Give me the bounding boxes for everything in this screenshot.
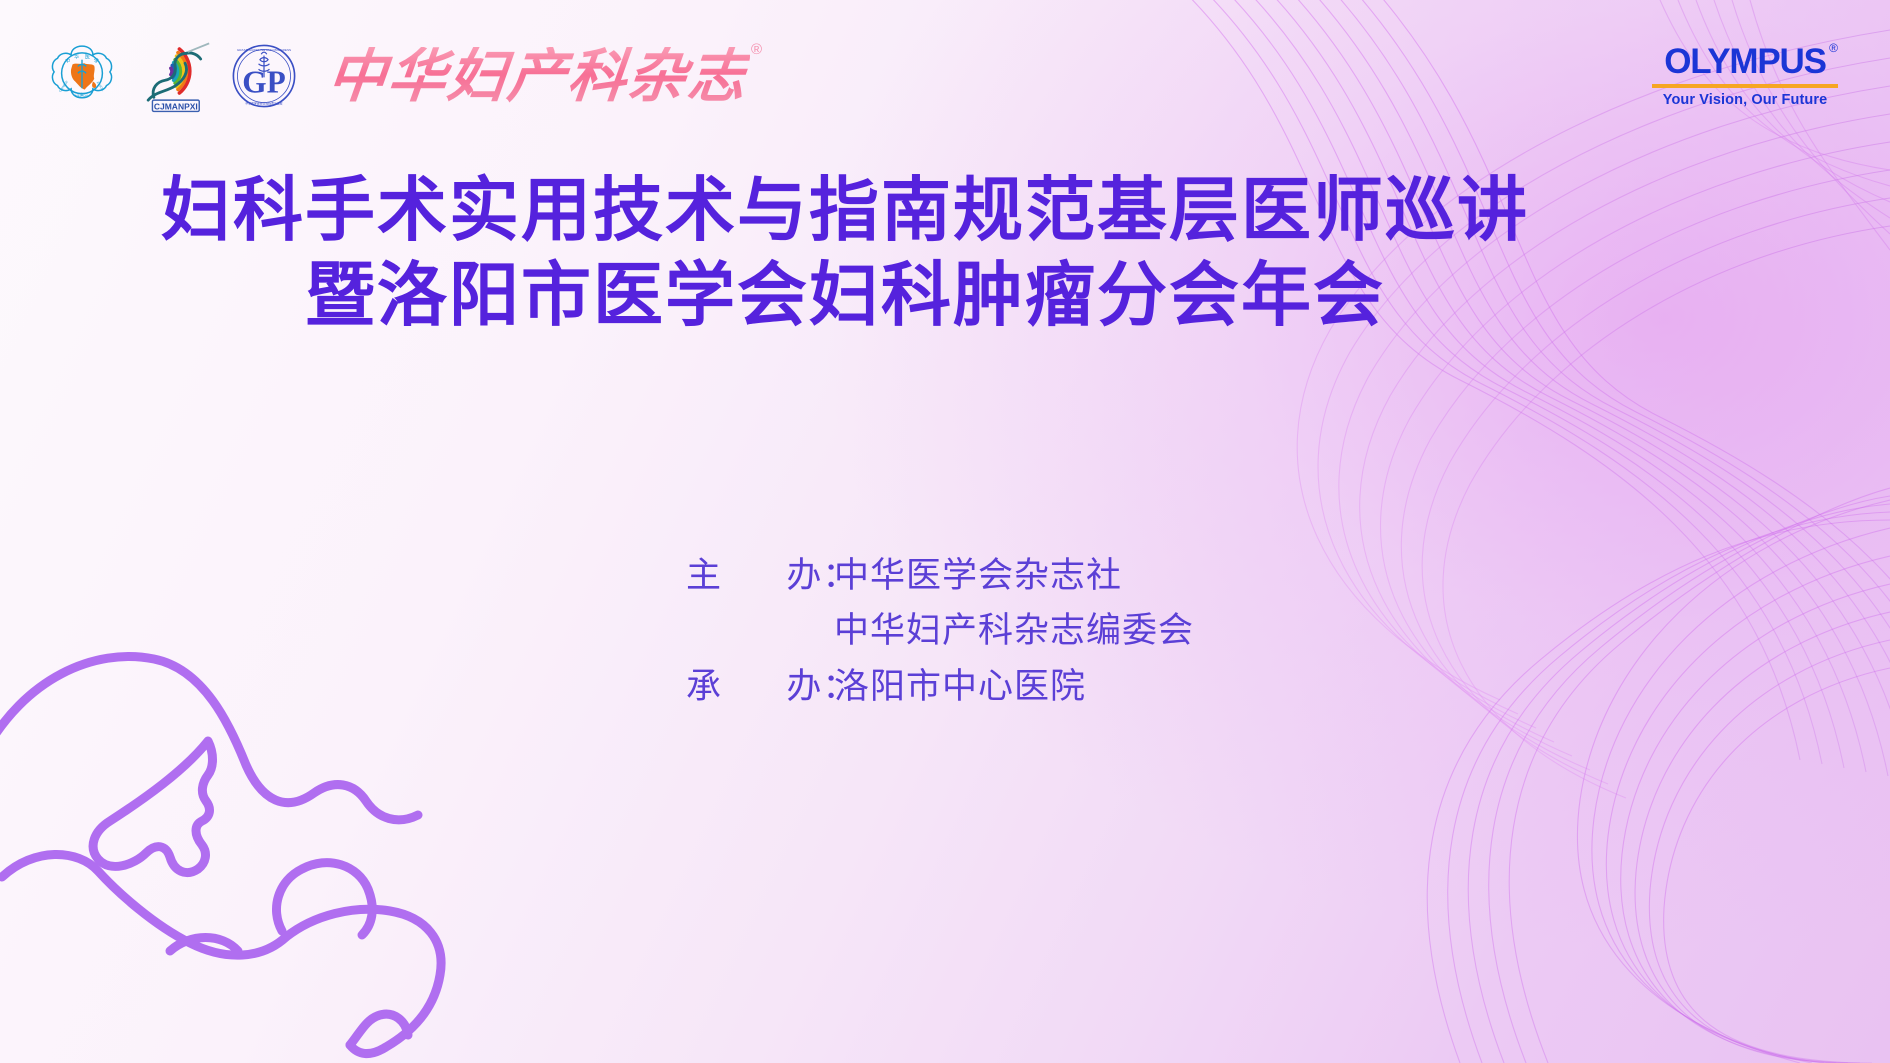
organizer-value-host-2: 中华妇产科杂志编委会: [834, 603, 1194, 658]
header-logo-row: 中华 医学 会 CHINESE MEDICAL ASSOC.: [48, 36, 762, 116]
organizer-value-undertaker: 洛阳市中心医院: [834, 659, 1086, 714]
title-line-1: 妇科手术实用技术与指南规范基层医师巡讲: [0, 168, 1690, 253]
svg-text:中: 中: [65, 57, 70, 64]
olympus-orange-rule: [1652, 84, 1838, 88]
olympus-tagline: Your Vision, Our Future: [1652, 92, 1838, 108]
journal-registered-mark: ®: [751, 41, 762, 58]
organizer-row-host: 主 办： 中华医学会杂志社: [686, 548, 1194, 603]
gp-logo-icon: GP GRASP GUIDELINE AND PROGRESS 中华医学会杂志社…: [230, 42, 298, 110]
organizer-row-host-2: 中华妇产科杂志编委会: [686, 603, 1194, 658]
cma-logo-icon: 中华 医学 会 CHINESE MEDICAL ASSOC.: [48, 42, 116, 110]
olympus-brand-text: OLYMPUS: [1664, 42, 1825, 81]
svg-text:GRASP GUIDELINE AND PROGRESS: GRASP GUIDELINE AND PROGRESS: [237, 48, 291, 52]
olympus-brand: OLYMPUS®: [1664, 44, 1825, 79]
olympus-registered-mark: ®: [1829, 42, 1837, 54]
conference-poster: 中华 医学 会 CHINESE MEDICAL ASSOC.: [0, 0, 1890, 1063]
organizer-row-undertaker: 承 办： 洛阳市中心医院: [686, 659, 1194, 714]
mother-and-baby-icon: [0, 633, 474, 1063]
svg-text:医: 医: [85, 54, 90, 60]
svg-text:MEDICAL: MEDICAL: [75, 93, 89, 97]
organizer-label-host: 主 办：: [686, 548, 834, 603]
cjmanpxi-logo-icon: CJMANPXI: [134, 39, 212, 113]
olympus-sponsor-logo: OLYMPUS® Your Vision, Our Future: [1652, 44, 1838, 108]
journal-name-zh: 中华妇产科杂志: [325, 47, 751, 105]
organizer-value-host: 中华医学会杂志社: [834, 548, 1122, 603]
svg-text:CJMANPXI: CJMANPXI: [154, 101, 198, 111]
organizer-label-undertaker: 承 办：: [686, 659, 834, 714]
svg-text:华: 华: [74, 53, 79, 60]
title-line-2: 暨洛阳市医学会妇科肿瘤分会年会: [0, 253, 1690, 338]
poster-title: 妇科手术实用技术与指南规范基层医师巡讲 暨洛阳市医学会妇科肿瘤分会年会: [0, 168, 1690, 339]
organizer-list: 主 办： 中华医学会杂志社 中华妇产科杂志编委会 承 办： 洛阳市中心医院: [686, 548, 1194, 714]
svg-text:学: 学: [94, 57, 99, 64]
mesh-waves-decoration: [0, 0, 1890, 1063]
svg-text:中华医学会杂志社指南与进展: 中华医学会杂志社指南与进展: [246, 102, 283, 106]
journal-wordmark: 中华妇产科杂志 ®: [328, 39, 762, 113]
